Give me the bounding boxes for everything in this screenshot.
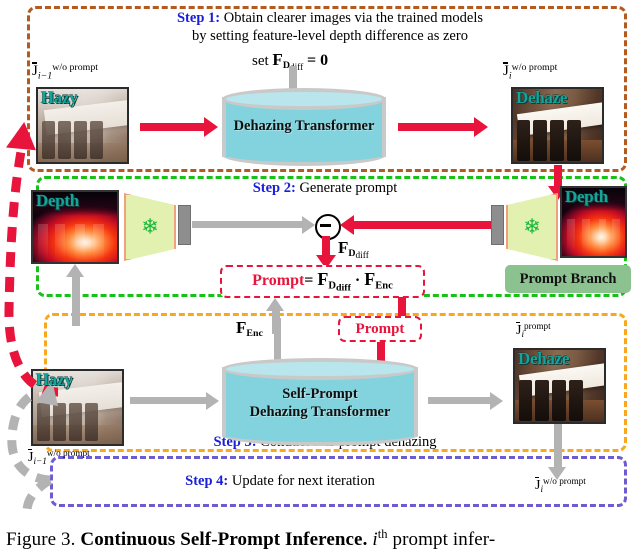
- step2-right-depth-thumbnail: Depth: [560, 186, 627, 258]
- hazy-caption: Hazy: [41, 88, 78, 108]
- jbar-base: J: [535, 478, 540, 494]
- prompt-formula: Prompt= FDdiff · FEnc: [252, 269, 393, 293]
- prompt-tag-label: Prompt: [356, 321, 405, 338]
- step1-title-line1: Obtain clearer images via the trained mo…: [224, 10, 483, 26]
- formula-prefix: set: [252, 53, 269, 69]
- snowflake-frozen-icon: ❄: [141, 217, 159, 238]
- step1-input-arrow: [140, 117, 218, 137]
- prompt-branch-tag: Prompt Branch: [505, 265, 631, 293]
- jbar-sup: w/o prompt: [543, 476, 586, 486]
- jbar-base: J: [32, 63, 38, 80]
- self-prompt-line2: Dehazing Transformer: [222, 404, 418, 421]
- prompt-branch-label: Prompt Branch: [520, 271, 617, 288]
- dehaze-caption: Dehaze: [516, 88, 567, 108]
- step1-output-arrow: [398, 117, 490, 137]
- formula-equals-zero: = 0: [307, 52, 328, 69]
- gray-dashed-loop: [12, 392, 50, 480]
- dehazing-transformer-cylinder: Dehazing Transformer: [222, 88, 386, 166]
- feature-bar-left: [178, 205, 191, 245]
- snowflake-frozen-icon: ❄: [523, 217, 541, 238]
- figure-caption: Figure 3. Continuous Self-Prompt Inferen…: [6, 521, 640, 553]
- step3-output-label: Jiprompt: [516, 321, 551, 339]
- jbar-sup: prompt: [524, 321, 551, 331]
- depth-caption: Depth: [565, 187, 608, 207]
- prompt-formula-eq: =: [304, 272, 313, 289]
- depth-encoder-right: ❄: [506, 193, 558, 261]
- feature-bar-right: [491, 205, 504, 245]
- step2-label: Step 2:: [253, 180, 296, 196]
- fddiff-subsub-diff: diff: [356, 251, 369, 261]
- step3-dehaze-thumbnail: Dehaze: [513, 348, 606, 424]
- self-prompt-transformer-cylinder: Self-Prompt Dehazing Transformer: [222, 358, 418, 446]
- step3-to-step4-arrow: [548, 424, 568, 482]
- step2-header: Step 2: Generate prompt: [170, 180, 480, 197]
- caption-title: Continuous Self-Prompt Inference.: [80, 529, 367, 550]
- step4-label: Step 4:: [185, 473, 228, 489]
- step2-right-feature-arrow: [340, 215, 492, 235]
- jbar-base: J: [503, 63, 509, 80]
- caption-th: th: [378, 527, 388, 541]
- prompt-formula-t2-sub: Enc: [375, 281, 393, 292]
- step2-title: Generate prompt: [299, 180, 397, 196]
- red-loop-arrowhead: [6, 120, 40, 152]
- caption-prefix: Figure 3.: [6, 529, 76, 550]
- prompt-formula-t1: F: [317, 269, 328, 289]
- figure-canvas: Step 1: Obtain clearer images via the tr…: [0, 0, 640, 550]
- fddiff-label: FDdiff: [338, 238, 369, 261]
- prompt-formula-dot: ·: [355, 272, 360, 289]
- dehazing-transformer-label: Dehazing Transformer: [222, 118, 386, 135]
- prompt-formula-t1-sub: D: [328, 281, 336, 292]
- dehaze-caption: Dehaze: [518, 349, 569, 369]
- fddiff-sub-D: D: [348, 248, 355, 259]
- fddiff-F: F: [338, 238, 348, 257]
- recurrent-loop-arrows: [0, 80, 70, 510]
- prompt-formula-lhs: Prompt: [252, 272, 304, 289]
- jbar-sup: w/o prompt: [52, 62, 98, 73]
- red-dashed-loop: [9, 146, 58, 392]
- step1-input-label: Ji−1w/o prompt: [32, 62, 98, 82]
- step4-header: Step 4: Update for next iteration: [120, 473, 440, 490]
- depth-caption: Depth: [36, 191, 79, 211]
- step3-output-arrow: [428, 392, 508, 410]
- fenc-sub: Enc: [246, 328, 262, 339]
- formula-F: F: [272, 50, 282, 69]
- hazy-caption: Hazy: [36, 370, 73, 390]
- step1-output-label: Jiw/o prompt: [503, 62, 557, 82]
- prompt-formula-callout: Prompt= FDdiff · FEnc: [220, 265, 425, 298]
- step1-subtitle: by setting feature-level depth differenc…: [60, 28, 600, 45]
- fddiff-arrow: [316, 236, 336, 268]
- caption-tail: prompt infer-: [393, 529, 496, 550]
- step4-output-label: Jiw/o prompt: [535, 476, 586, 494]
- fenc-label: FEnc: [236, 318, 263, 339]
- prompt-formula-t1-subsub: diff: [336, 283, 351, 294]
- prompt-tag-callout: Prompt: [338, 316, 422, 342]
- depth-encoder-left: ❄: [124, 193, 176, 261]
- step1-title-line2: by setting feature-level depth differenc…: [192, 28, 468, 44]
- step1-label: Step 1:: [177, 10, 220, 26]
- step1-dehaze-thumbnail: Dehaze: [511, 87, 604, 164]
- step2-left-feature-arrow: [192, 216, 318, 234]
- jbar-base: J: [516, 323, 521, 339]
- step4-title: Update for next iteration: [232, 473, 375, 489]
- step1-header: Step 1: Obtain clearer images via the tr…: [60, 10, 600, 27]
- self-prompt-line1: Self-Prompt: [222, 386, 418, 403]
- jbar-sup: w/o prompt: [512, 62, 558, 73]
- prompt-formula-t2: F: [364, 269, 375, 289]
- fenc-F: F: [236, 318, 246, 337]
- gray-dashed-loop-tail: [27, 480, 50, 510]
- step3-input-arrow: [130, 392, 222, 410]
